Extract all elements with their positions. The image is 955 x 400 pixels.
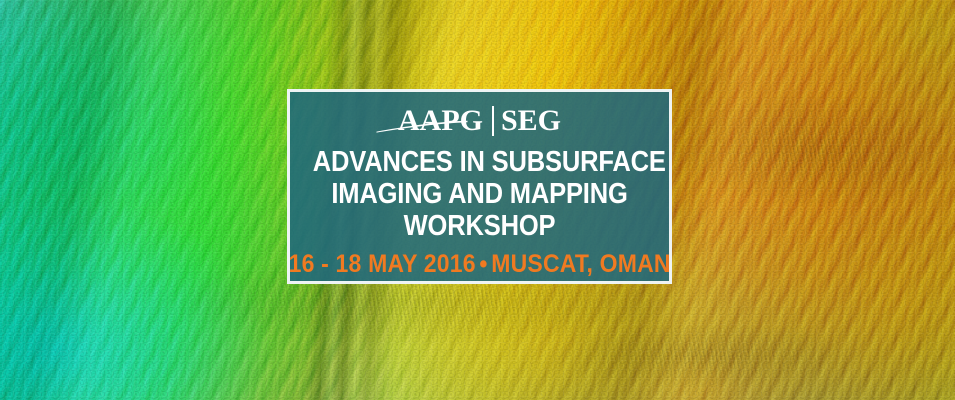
event-info-card: AAPG SEG ADVANCES IN SUBSURFACE IMAGING … <box>287 89 672 284</box>
event-title-line-1: ADVANCES IN SUBSURFACE <box>313 146 647 178</box>
event-dates: 16 - 18 MAY 2016 <box>288 250 475 278</box>
aapg-swoosh-icon <box>376 120 468 133</box>
event-title-line-2: IMAGING AND MAPPING <box>313 178 647 210</box>
aapg-wordmark: AAPG <box>398 106 485 136</box>
event-location: MUSCAT, OMAN <box>491 250 670 278</box>
logo-divider <box>492 106 494 136</box>
event-title: ADVANCES IN SUBSURFACE IMAGING AND MAPPI… <box>313 146 647 242</box>
event-title-line-3: WORKSHOP <box>313 210 647 242</box>
event-meta: 16 - 18 MAY 2016•MUSCAT, OMAN <box>288 251 670 278</box>
aapg-seg-logo: AAPG SEG <box>398 104 561 138</box>
meta-bullet-separator: • <box>476 250 492 278</box>
seg-wordmark: SEG <box>501 106 561 136</box>
event-banner: AAPG SEG ADVANCES IN SUBSURFACE IMAGING … <box>0 0 955 400</box>
